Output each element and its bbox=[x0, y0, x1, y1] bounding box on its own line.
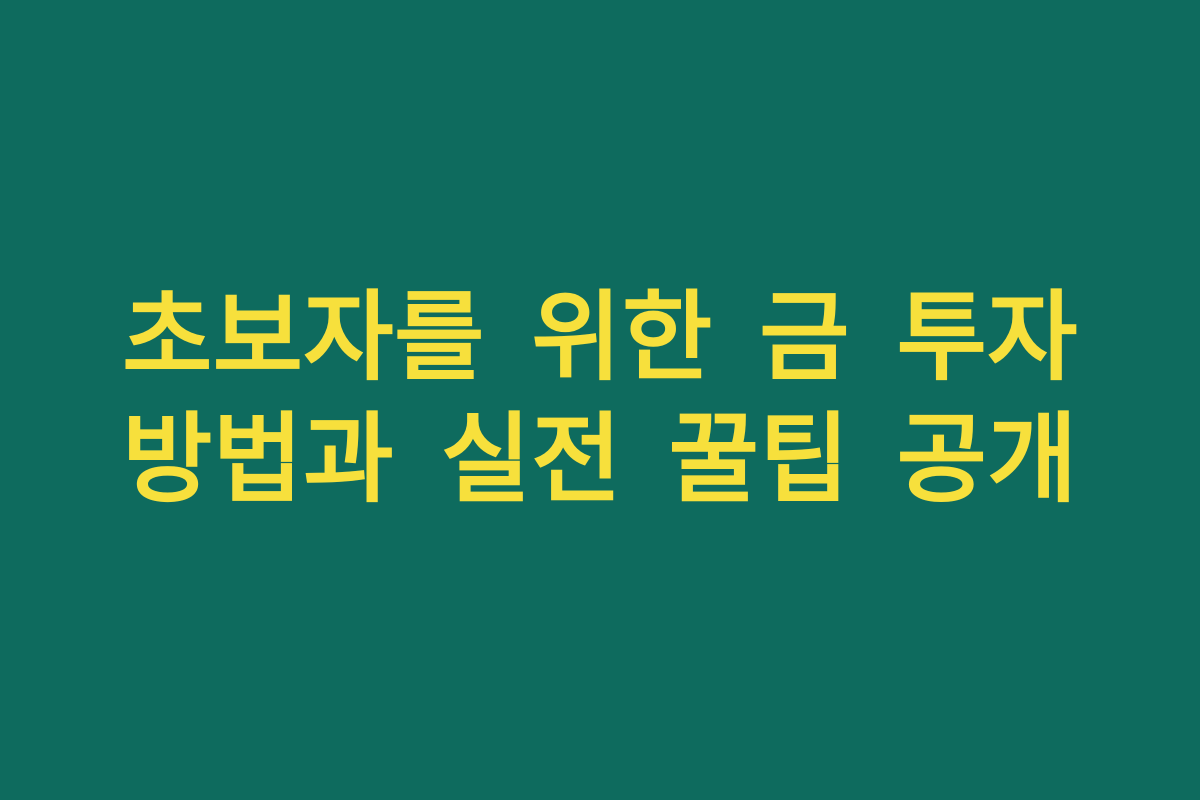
thumbnail-canvas: 초보자를 위한 금 투자 방법과 실전 꿀팁 공개 bbox=[0, 0, 1200, 800]
title-line-2: 방법과 실전 꿀팁 공개 bbox=[40, 409, 1160, 513]
title-line-1: 초보자를 위한 금 투자 bbox=[40, 287, 1160, 391]
title-block: 초보자를 위한 금 투자 방법과 실전 꿀팁 공개 bbox=[0, 287, 1200, 513]
